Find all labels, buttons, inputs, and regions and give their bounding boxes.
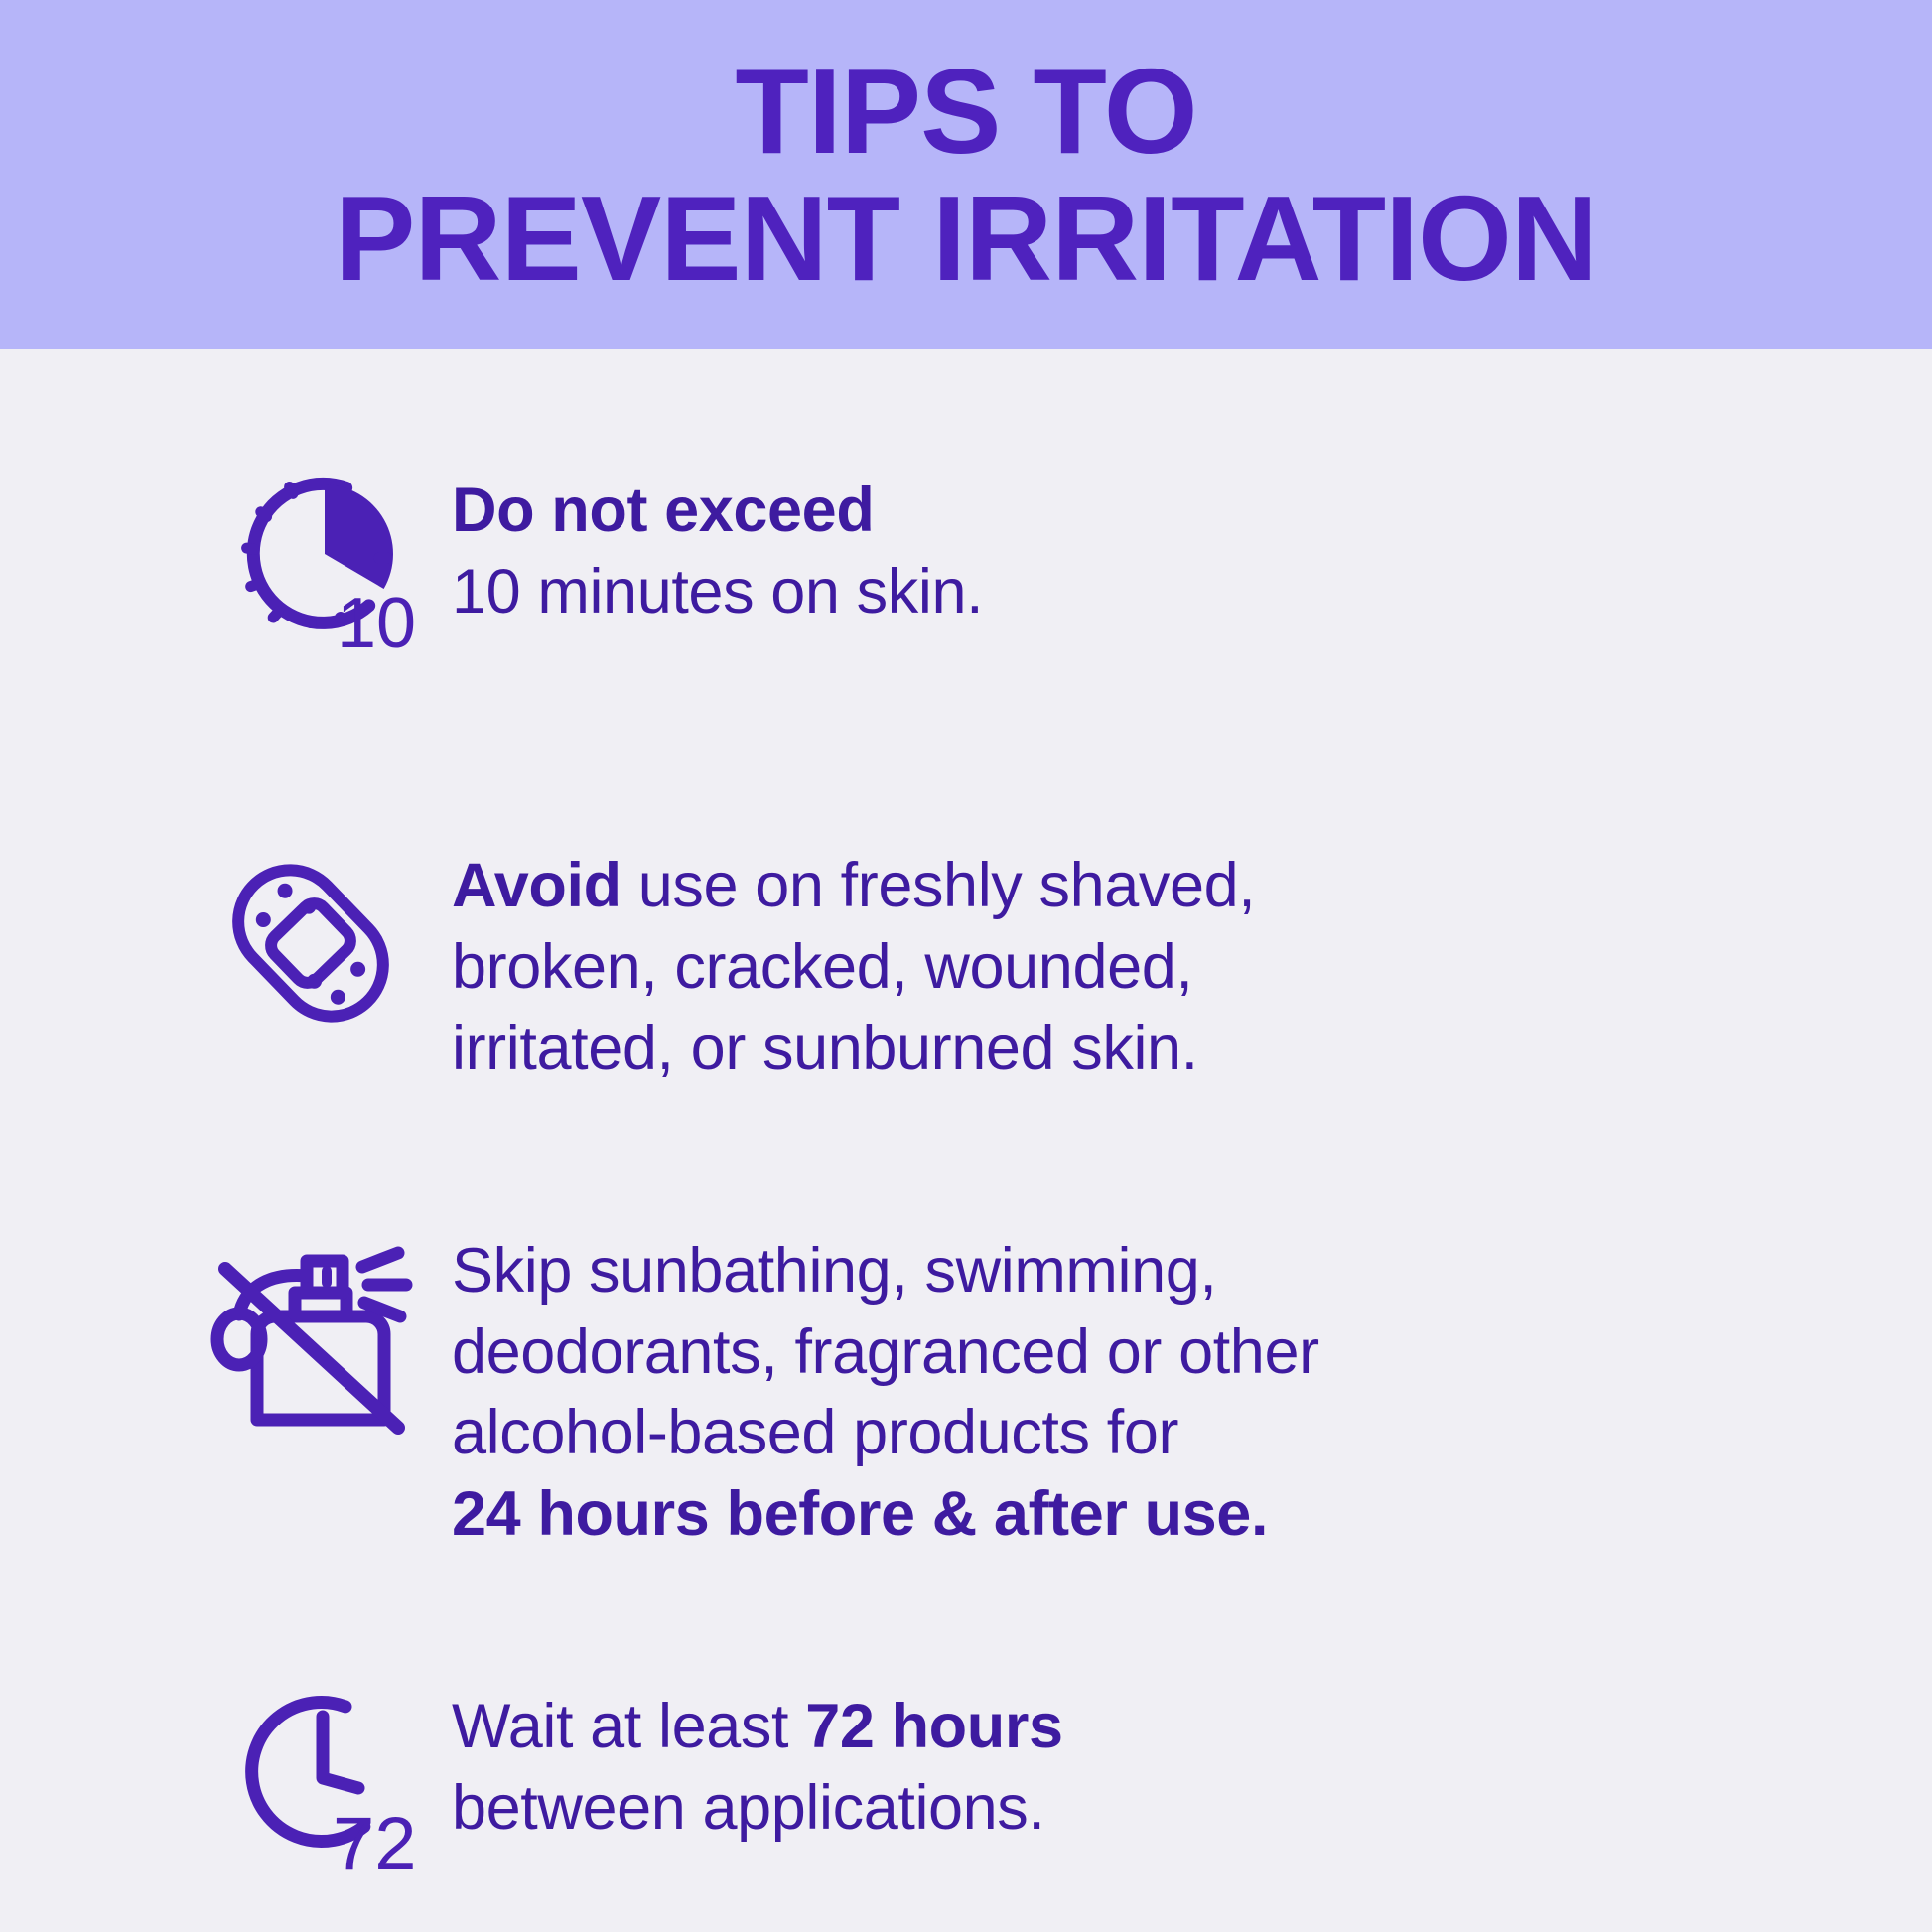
tip-4-line-2: between applications. xyxy=(452,1768,1813,1850)
header-band: TIPS TO PREVENT IRRITATION xyxy=(0,0,1932,349)
tip-1-line-2: 10 minutes on skin. xyxy=(452,552,1813,633)
tip-item-1: 10 Do not exceed 10 minutes on skin. xyxy=(0,457,1932,705)
bandage-icon xyxy=(211,844,410,1042)
tip-2-line-2: broken, cracked, wounded, xyxy=(452,927,1813,1009)
tip-2-line-3: irritated, or sunburned skin. xyxy=(452,1009,1813,1090)
tip-item-3: Skip sunbathing, swimming, deodorants, f… xyxy=(0,1217,1932,1557)
clock-badge-72: 72 xyxy=(333,1802,417,1883)
tip-item-2: Avoid use on freshly shaved, broken, cra… xyxy=(0,832,1932,1090)
tip-3-line-4: 24 hours before & after use. xyxy=(452,1474,1813,1556)
no-spray-bottle-icon xyxy=(204,1223,417,1437)
timer-badge-10: 10 xyxy=(337,584,416,663)
tip-4-line-1: Wait at least 72 hours xyxy=(452,1687,1813,1768)
page-title-line-2: PREVENT IRRITATION xyxy=(335,177,1597,300)
tip-text-4: Wait at least 72 hours between applicati… xyxy=(452,1673,1813,1850)
infographic-poster: TIPS TO PREVENT IRRITATION xyxy=(0,0,1932,1932)
tip-icon-slot-4: 72 xyxy=(204,1673,452,1921)
tip-text-3: Skip sunbathing, swimming, deodorants, f… xyxy=(452,1217,1813,1557)
tip-2-line-1: Avoid use on freshly shaved, xyxy=(452,846,1813,927)
page-title-line-1: TIPS TO xyxy=(735,50,1196,173)
tips-list: 10 Do not exceed 10 minutes on skin. xyxy=(0,457,1932,1921)
tip-3-line-1: Skip sunbathing, swimming, xyxy=(452,1231,1813,1312)
tip-icon-slot-3 xyxy=(204,1217,452,1465)
clock-72-hours-icon: 72 xyxy=(225,1685,424,1883)
tip-3-line-3: alcohol-based products for xyxy=(452,1393,1813,1474)
tip-1-line-1: Do not exceed xyxy=(452,471,1813,552)
tip-text-1: Do not exceed 10 minutes on skin. xyxy=(452,457,1813,633)
tip-icon-slot-1: 10 xyxy=(204,457,452,705)
tip-text-2: Avoid use on freshly shaved, broken, cra… xyxy=(452,832,1813,1090)
tip-item-4: 72 Wait at least 72 hours between applic… xyxy=(0,1673,1932,1921)
tip-icon-slot-2 xyxy=(204,832,452,1080)
timer-10-minutes-icon: 10 xyxy=(225,467,424,665)
tip-3-line-2: deodorants, fragranced or other xyxy=(452,1312,1813,1394)
